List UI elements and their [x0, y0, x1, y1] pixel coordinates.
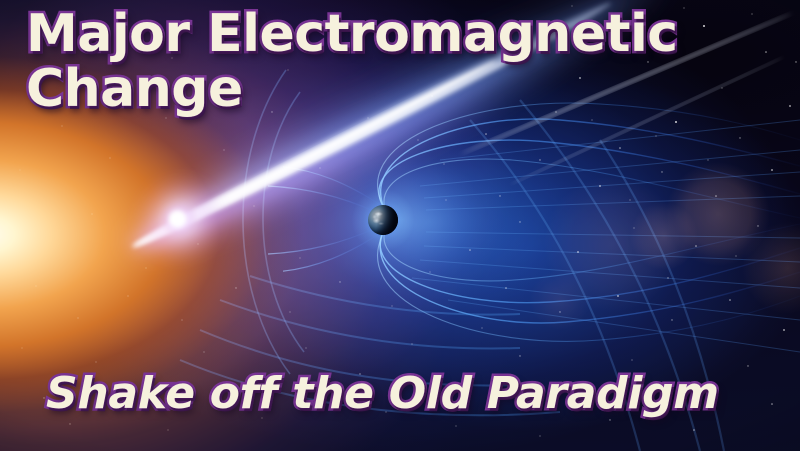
subtitle-text: Shake off the Old Paradigm	[46, 371, 786, 417]
title-line-2: Change	[26, 63, 786, 116]
page-title: Major Electromagnetic Change	[26, 8, 786, 118]
earth-terminator	[368, 205, 398, 235]
subtitle: Shake off the Old Paradigm	[46, 371, 786, 417]
title-line-1: Major Electromagnetic	[26, 8, 786, 61]
earth	[368, 205, 398, 235]
title-card-graphic: Major Electromagnetic Change Shake off t…	[0, 0, 800, 451]
